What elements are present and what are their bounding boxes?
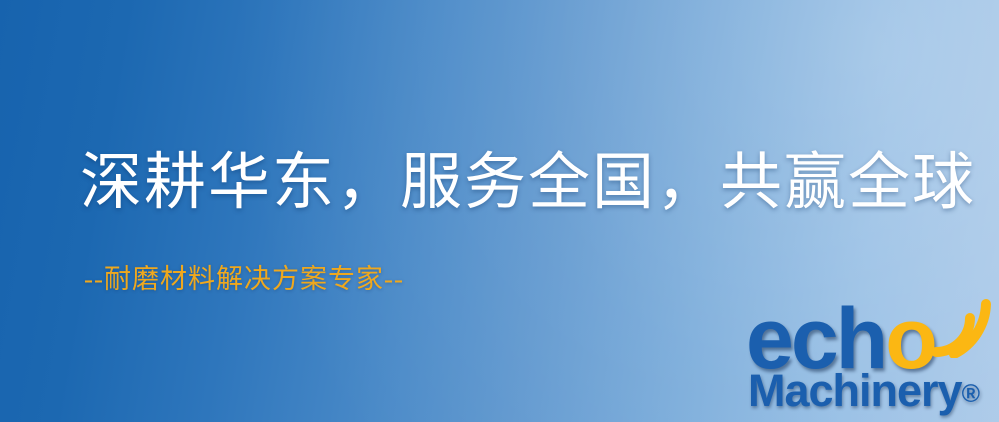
banner-subtitle: --耐磨材料解决方案专家--	[84, 266, 404, 293]
promo-banner: 深耕华东，服务全国，共赢全球 --耐磨材料解决方案专家-- echo Machi…	[0, 0, 999, 422]
logo-tagline-text: Machinery	[748, 365, 962, 416]
signal-waves-icon	[928, 296, 994, 358]
registered-trademark-icon: ®	[962, 380, 980, 408]
logo-tagline: Machinery®	[748, 368, 980, 413]
banner-headline: 深耕华东，服务全国，共赢全球	[80, 152, 976, 214]
company-logo: echo Machinery®	[742, 296, 994, 422]
